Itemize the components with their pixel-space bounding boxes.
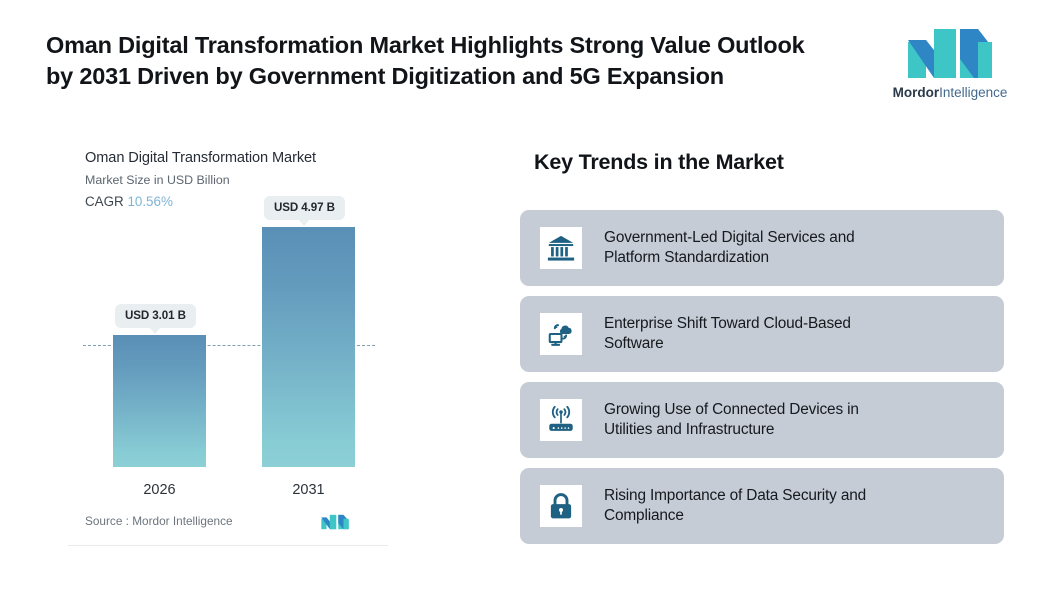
key-trend-text-line-1: Rising Importance of Data Security and bbox=[604, 486, 866, 507]
page-title-line-1: Oman Digital Transformation Market Highl… bbox=[46, 30, 876, 61]
x-axis-label-2031: 2031 bbox=[262, 482, 355, 498]
brand-logo: MordorIntelligence bbox=[884, 26, 1016, 100]
mordor-m-logo-icon bbox=[904, 26, 996, 81]
bar-2031 bbox=[262, 227, 355, 467]
chart-source: Source : Mordor Intelligence bbox=[85, 514, 233, 528]
key-trend-text-line-2: Software bbox=[604, 334, 851, 355]
padlock-icon bbox=[540, 485, 582, 527]
brand-name: MordorIntelligence bbox=[884, 85, 1016, 100]
key-trend-card-text: Government-Led Digital Services and Plat… bbox=[604, 228, 855, 269]
key-trend-card-text: Growing Use of Connected Devices in Util… bbox=[604, 400, 859, 441]
key-trend-text-line-1: Government-Led Digital Services and bbox=[604, 228, 855, 249]
mordor-m-logo-icon bbox=[320, 513, 350, 531]
key-trends-list: Government-Led Digital Services and Plat… bbox=[520, 210, 1004, 554]
brand-name-bold: Mordor bbox=[893, 85, 940, 100]
bar-2026 bbox=[113, 335, 206, 467]
key-trend-text-line-2: Compliance bbox=[604, 506, 866, 527]
page-title-line-2: by 2031 Driven by Government Digitizatio… bbox=[46, 61, 876, 92]
bar-label-2026: USD 3.01 B bbox=[115, 304, 196, 328]
slide-root: Oman Digital Transformation Market Highl… bbox=[0, 0, 1062, 589]
bar-label-2031: USD 4.97 B bbox=[264, 196, 345, 220]
key-trend-card-government[interactable]: Government-Led Digital Services and Plat… bbox=[520, 210, 1004, 286]
key-trend-text-line-2: Platform Standardization bbox=[604, 248, 855, 269]
wireless-router-icon bbox=[540, 399, 582, 441]
chart-panel: Oman Digital Transformation Market Marke… bbox=[68, 132, 388, 546]
key-trend-text-line-1: Enterprise Shift Toward Cloud-Based bbox=[604, 314, 851, 335]
cloud-computer-sync-icon bbox=[540, 313, 582, 355]
key-trends-heading: Key Trends in the Market bbox=[534, 150, 784, 175]
key-trend-card-data-security[interactable]: Rising Importance of Data Security and C… bbox=[520, 468, 1004, 544]
page-title: Oman Digital Transformation Market Highl… bbox=[46, 30, 876, 92]
key-trend-card-cloud[interactable]: Enterprise Shift Toward Cloud-Based Soft… bbox=[520, 296, 1004, 372]
key-trend-card-connected-devices[interactable]: Growing Use of Connected Devices in Util… bbox=[520, 382, 1004, 458]
x-axis-label-2026: 2026 bbox=[113, 482, 206, 498]
key-trend-text-line-1: Growing Use of Connected Devices in bbox=[604, 400, 859, 421]
bank-institution-icon bbox=[540, 227, 582, 269]
bar-chart-plot: USD 3.01 B USD 4.97 B 2026 2031 bbox=[68, 132, 388, 546]
key-trend-card-text: Enterprise Shift Toward Cloud-Based Soft… bbox=[604, 314, 851, 355]
key-trend-card-text: Rising Importance of Data Security and C… bbox=[604, 486, 866, 527]
brand-name-light: Intelligence bbox=[939, 85, 1007, 100]
key-trend-text-line-2: Utilities and Infrastructure bbox=[604, 420, 859, 441]
